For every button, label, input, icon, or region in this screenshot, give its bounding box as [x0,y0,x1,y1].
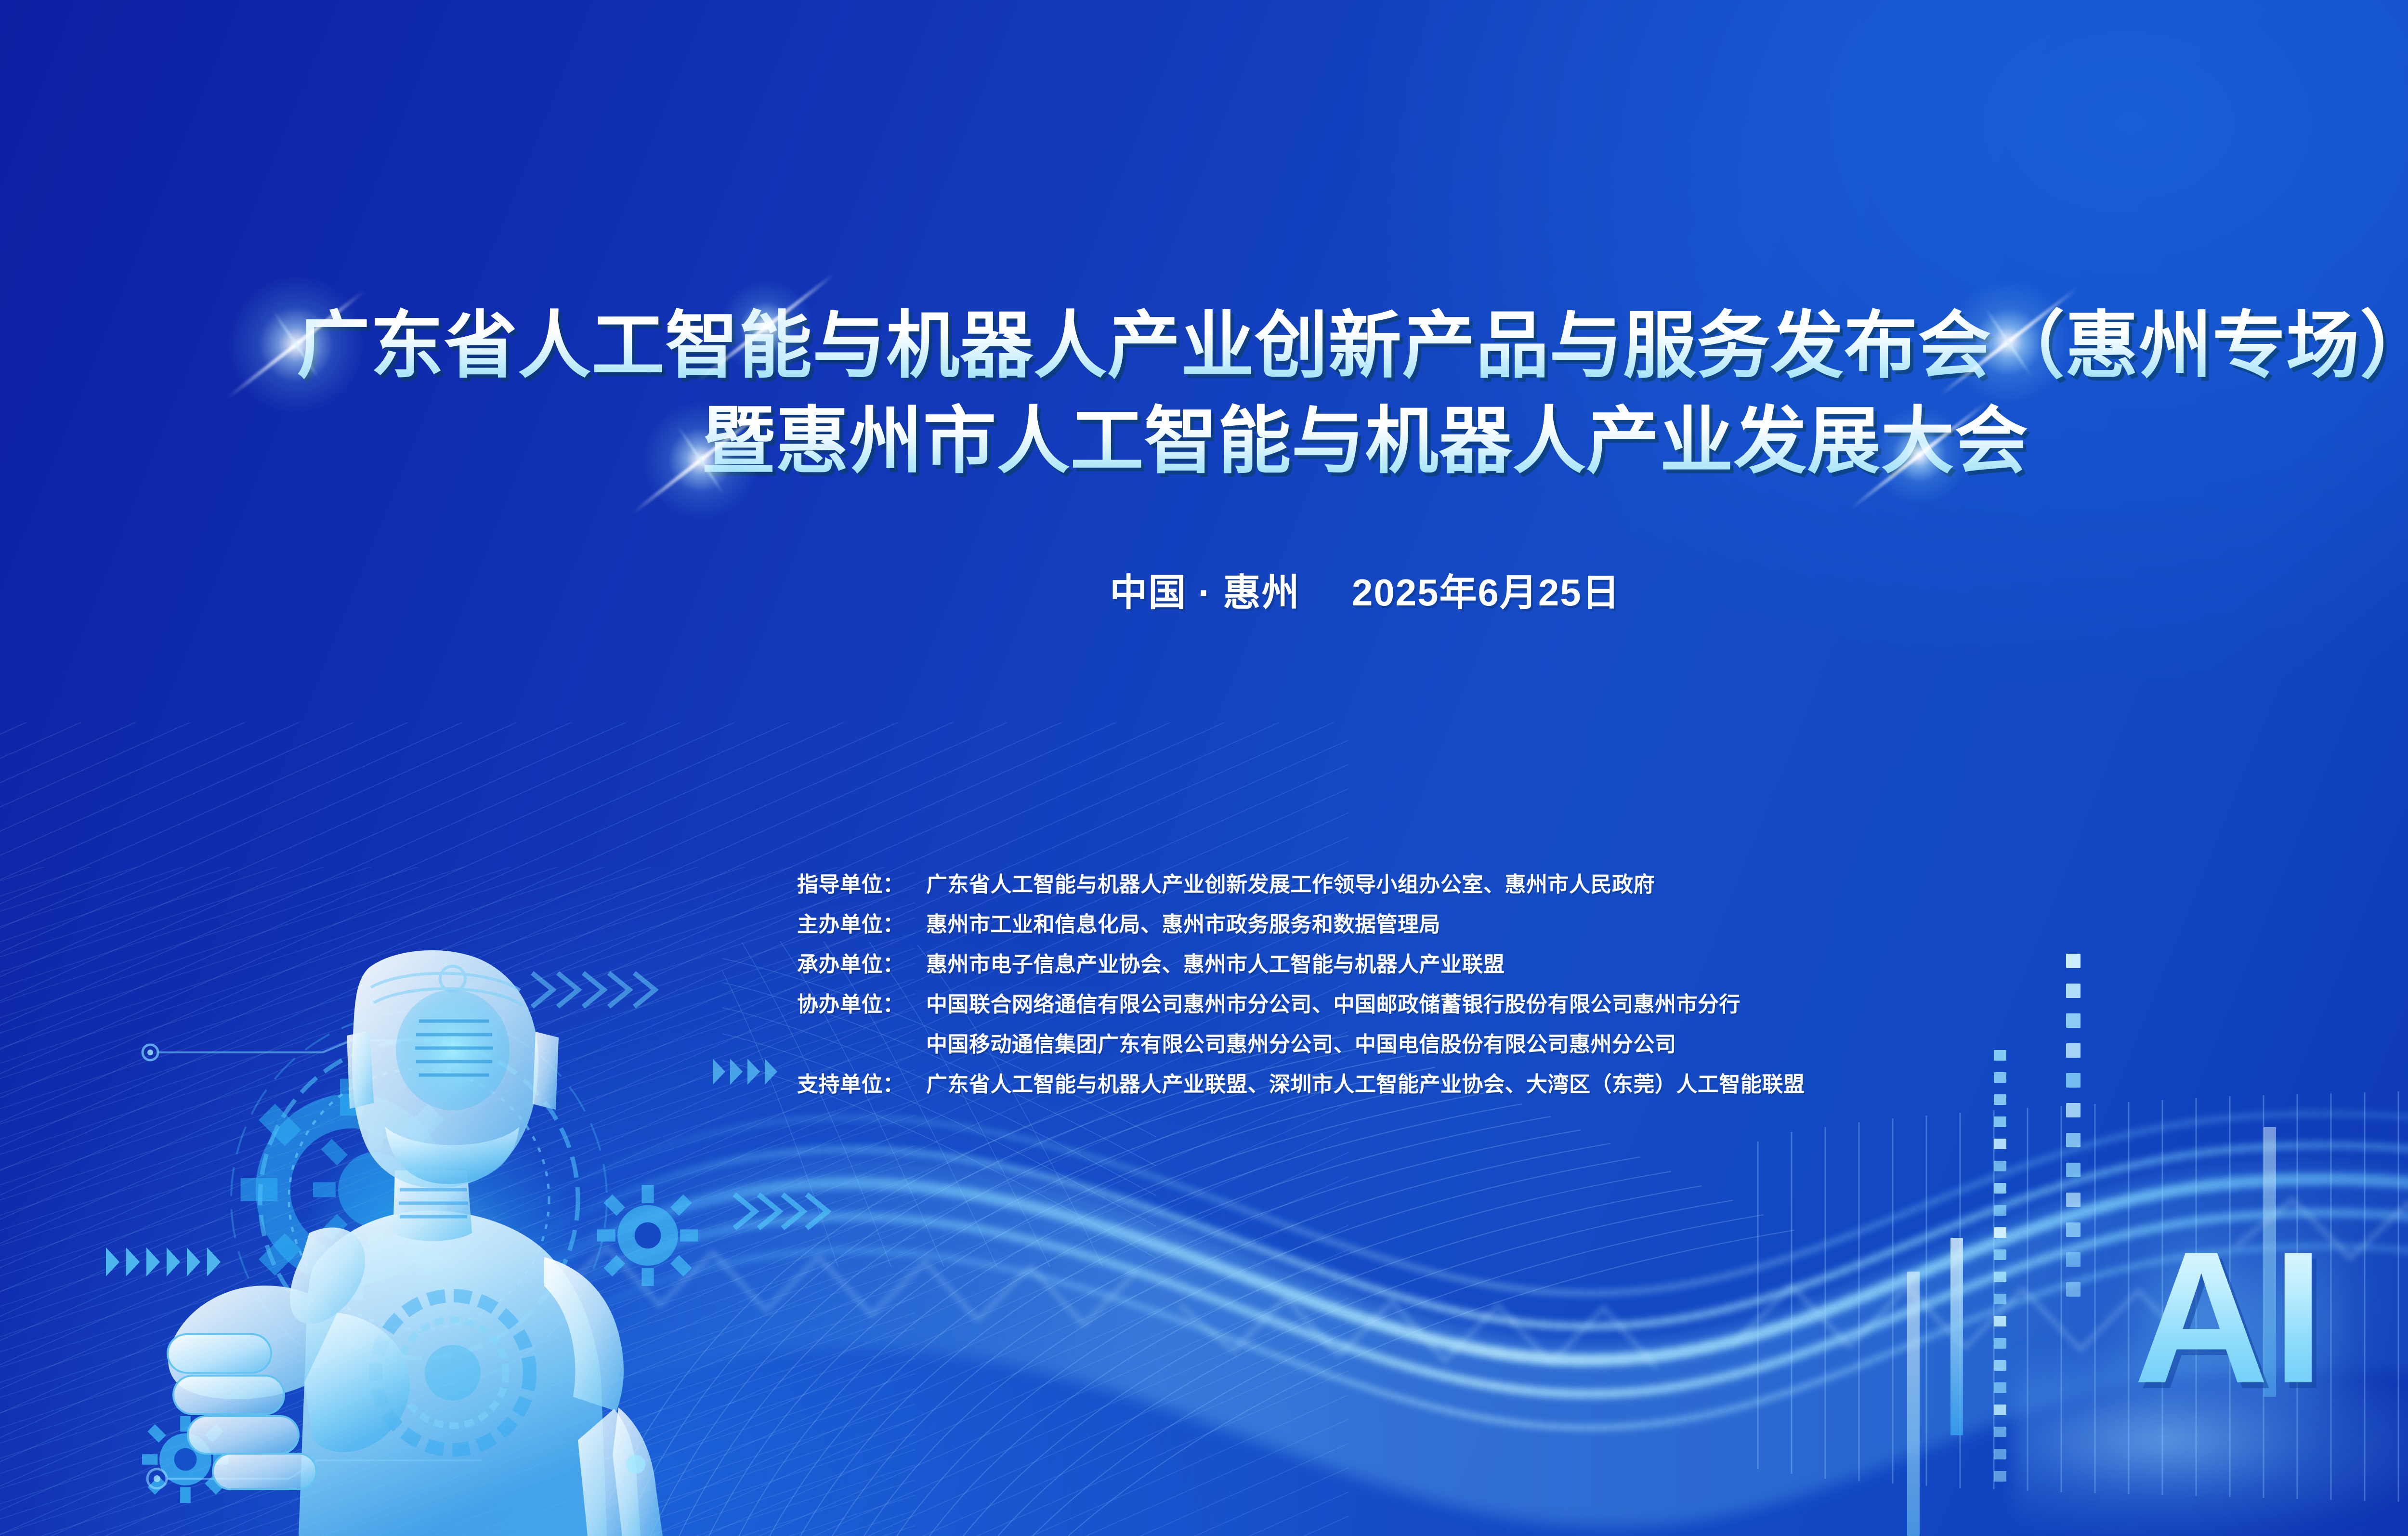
organizer-label: 指导单位： [797,867,926,898]
event-location: 中国 · 惠州 [1110,571,1300,614]
organizer-label: 主办单位： [797,907,926,938]
gear-large-icon [236,1074,467,1305]
organizer-value: 惠州市电子信息产业协会、惠州市人工智能与机器人产业联盟 [926,947,1505,978]
circuit-node-icon [140,1031,438,1074]
organizer-row: 承办单位： 惠州市电子信息产业协会、惠州市人工智能与机器人产业联盟 [797,947,2338,978]
organizer-label: 承办单位： [797,947,926,978]
chevron-arrows-icon-a [106,1243,241,1281]
diagonal-line-texture-secondary [0,867,915,1536]
organizer-list: 指导单位： 广东省人工智能与机器人产业创新发展工作领导小组办公室、惠州市人民政府… [797,867,2338,1107]
organizer-label: 协办单位： [797,987,926,1018]
chevron-arrows-icon-d [713,1055,809,1089]
poster-canvas: AI [0,0,2408,1536]
gear-medium-right-icon [597,1185,698,1286]
organizer-label: 支持单位： [797,1067,926,1098]
diagonal-line-texture [0,722,1348,1536]
organizer-value: 广东省人工智能与机器人产业创新发展工作领导小组办公室、惠州市人民政府 [926,867,1655,898]
robot-figure [87,901,722,1536]
gear-small-icon [142,1416,229,1503]
ai-logo: AI [2133,1223,2327,1411]
organizer-row: 支持单位： 广东省人工智能与机器人产业联盟、深圳市人工智能产业协会、大湾区（东莞… [797,1067,2338,1098]
chevron-arrows-icon-c [530,968,674,1011]
event-date: 2025年6月25日 [1352,571,1621,614]
title-block: 广东省人工智能与机器人产业创新产品与服务发布会（惠州专场） 暨惠州市人工智能与机… [0,299,2408,489]
title-line-1: 广东省人工智能与机器人产业创新产品与服务发布会（惠州专场） [0,299,2408,394]
organizer-row: 协办单位： 中国联合网络通信有限公司惠州市分公司、中国邮政储蓄银行股份有限公司惠… [797,987,2338,1018]
title-line-2: 暨惠州市人工智能与机器人产业发展大会 [0,394,2408,489]
equalizer-bar-tall-left [1907,1272,1920,1536]
organizer-value: 中国联合网络通信有限公司惠州市分公司、中国邮政储蓄银行股份有限公司惠州市分行 [926,987,1741,1018]
organizer-value: 惠州市工业和信息化局、惠州市政务服务和数据管理局 [926,907,1440,938]
organizer-value: 中国移动通信集团广东有限公司惠州分公司、中国电信股份有限公司惠州分公司 [926,1027,1676,1058]
circuit-node-icon-b [144,1450,482,1503]
organizer-row-continuation: 协办单位： 中国移动通信集团广东有限公司惠州分公司、中国电信股份有限公司惠州分公… [797,1027,2338,1058]
organizer-row: 主办单位： 惠州市工业和信息化局、惠州市政务服务和数据管理局 [797,907,2338,938]
equalizer-bars-center [1994,1050,2028,1536]
organizer-value: 广东省人工智能与机器人产业联盟、深圳市人工智能产业协会、大湾区（东莞）人工智能联… [926,1067,1805,1098]
chevron-arrows-icon-b [732,1190,857,1233]
event-subtitle: 中国 · 惠州 2025年6月25日 [0,563,2408,617]
organizer-row: 指导单位： 广东省人工智能与机器人产业创新发展工作领导小组办公室、惠州市人民政府 [797,867,2338,898]
